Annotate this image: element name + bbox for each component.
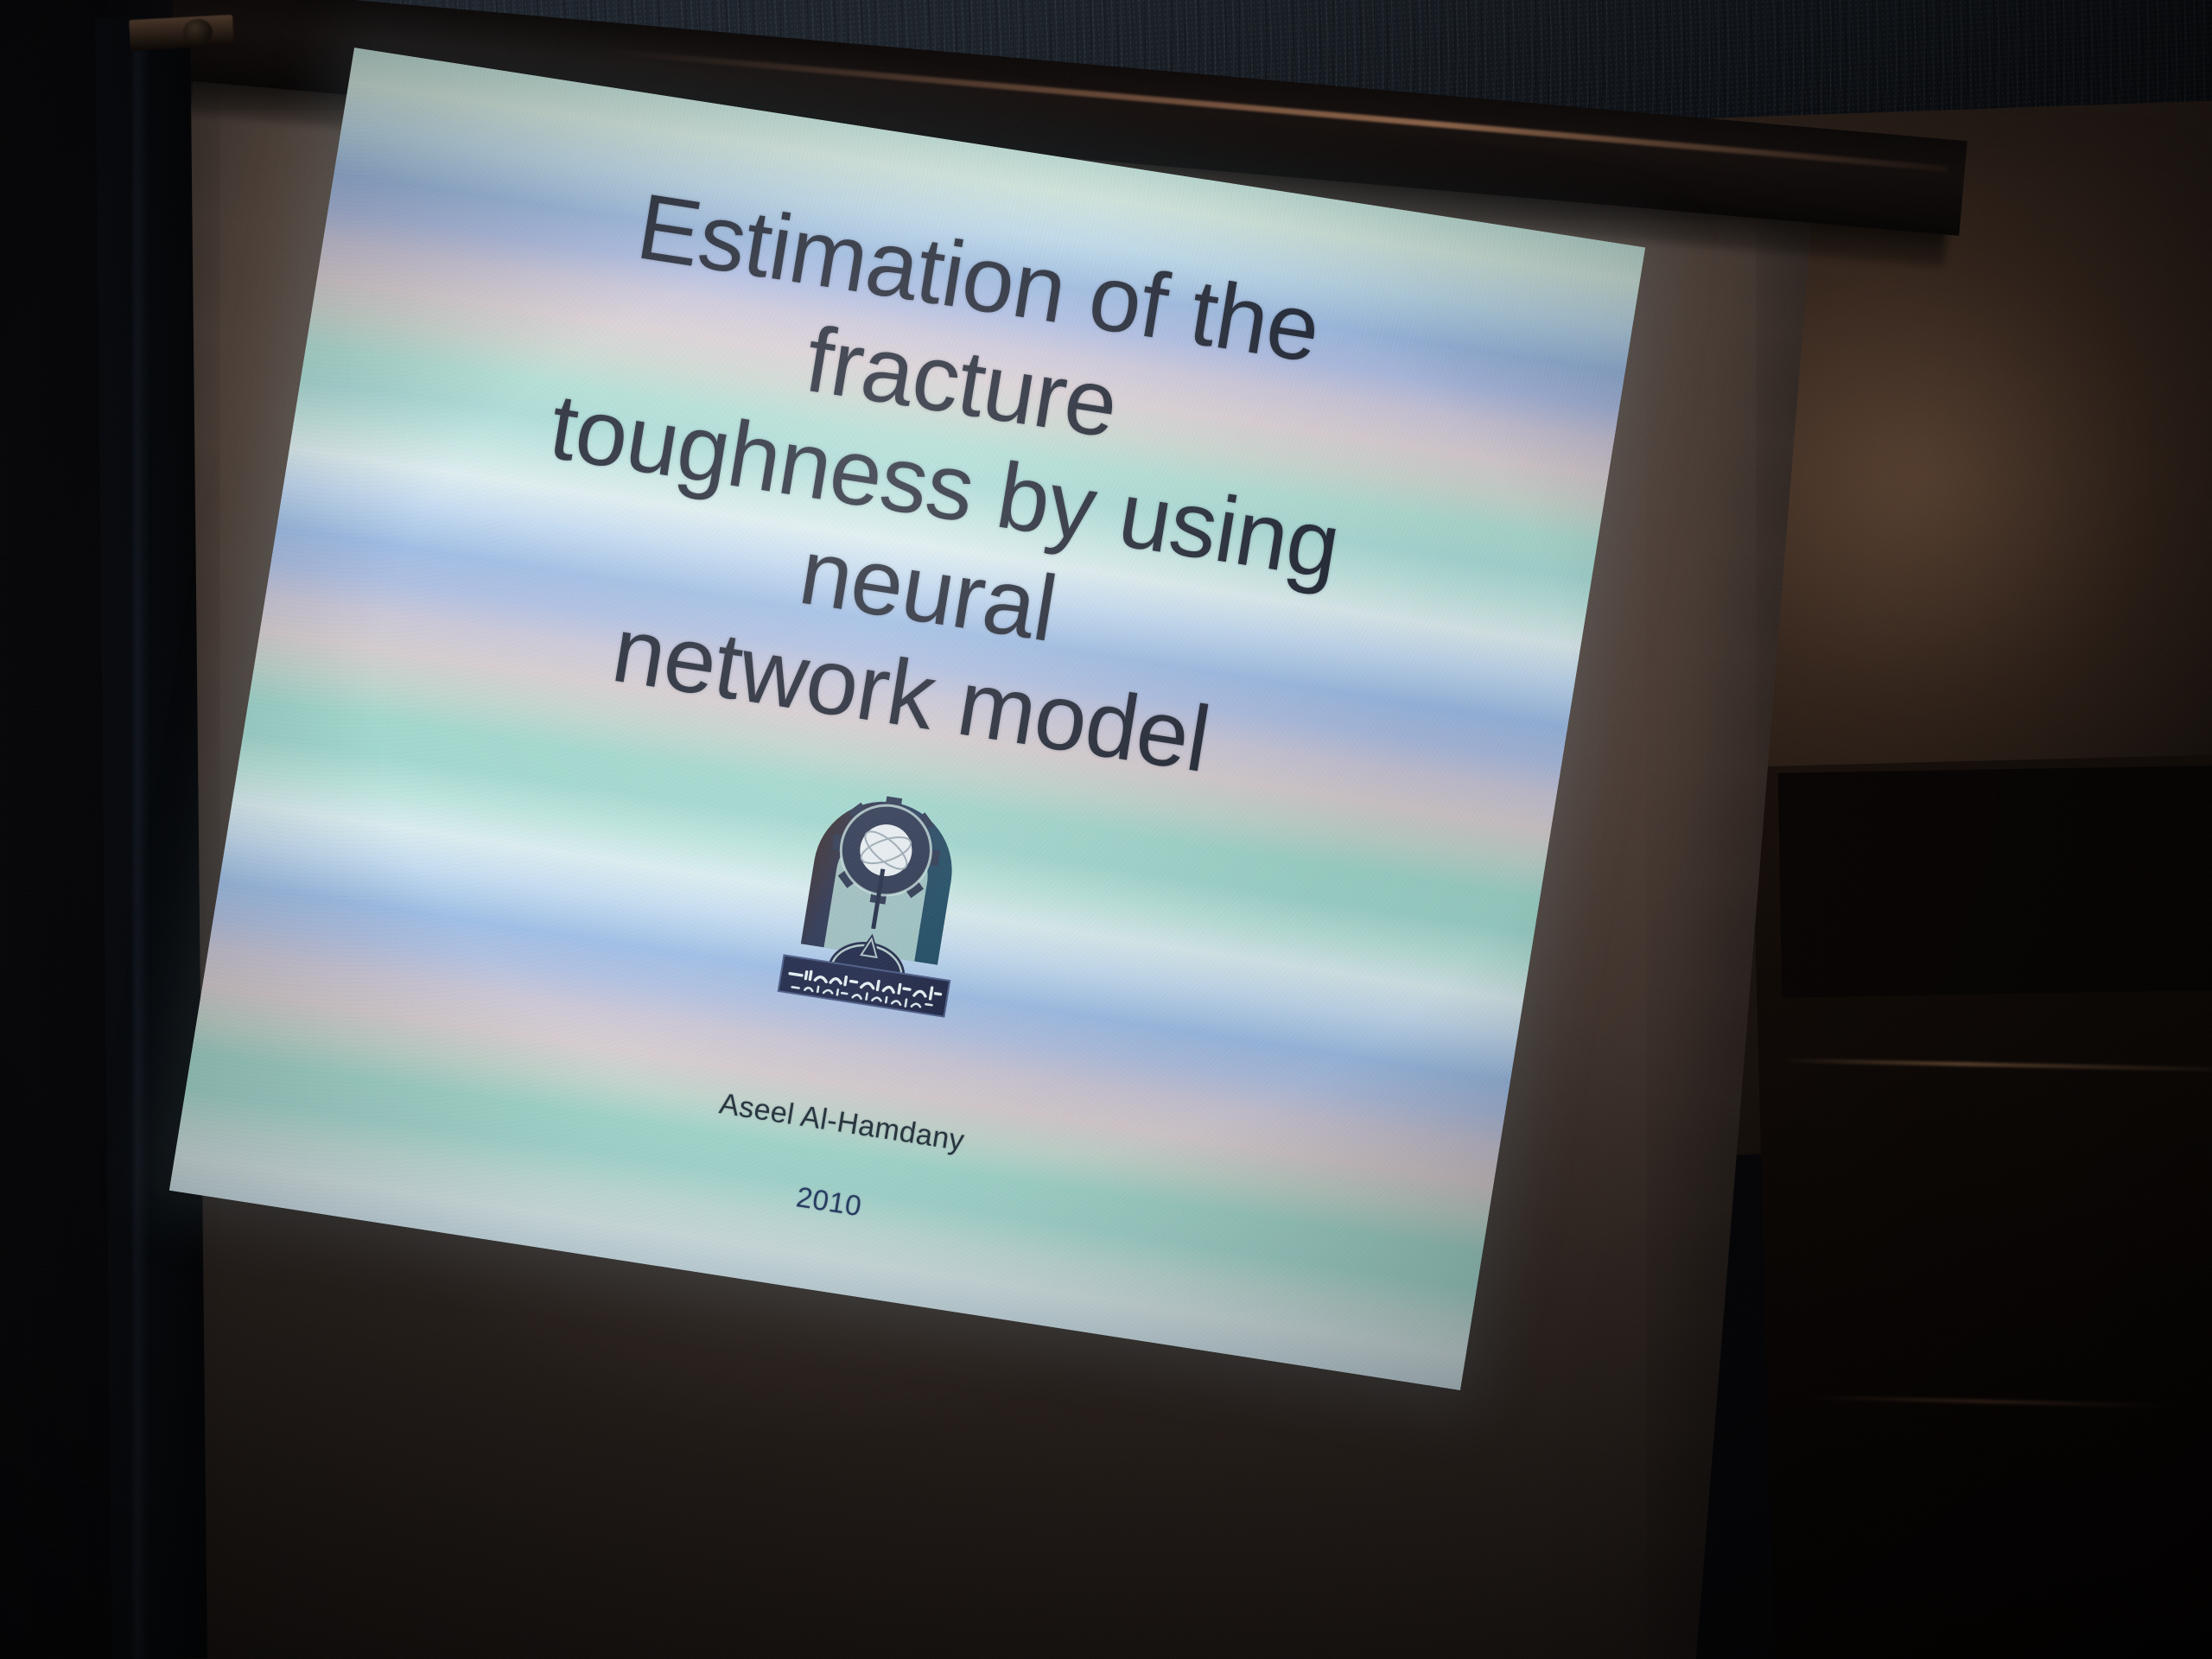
slide-year: 2010 [794,1180,864,1223]
slide-content: Estimation of the fracture toughness by … [169,48,1645,1390]
screen-mount-bracket [129,15,234,51]
cabinet-top-panel [1778,765,2212,997]
screen-mount-knob-icon [183,19,213,45]
logo-svg [763,760,996,1021]
photo-scene: Estimation of the fracture toughness by … [0,0,2212,1659]
left-post-highlight [134,35,148,1659]
slide-title: Estimation of the fracture toughness by … [399,148,1491,824]
university-of-technology-logo [763,760,996,1021]
slide-background: Estimation of the fracture toughness by … [169,48,1645,1390]
slide-author: Aseel Al-Hamdany [717,1087,967,1158]
projected-slide: Estimation of the fracture toughness by … [169,48,1645,1390]
left-wall-post [95,16,207,1659]
